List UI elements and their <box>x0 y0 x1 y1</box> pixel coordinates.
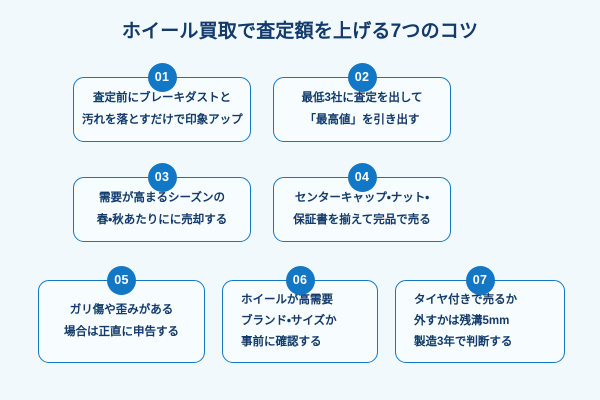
tip-card-02-text: 最低3社に査定を出して 「最高値」を引き出す <box>274 88 450 131</box>
tip-card-06-number-badge: 06 <box>286 266 315 295</box>
tip-card-06-line-3: 事前に確認する <box>241 332 377 353</box>
tip-card-03-number-badge: 03 <box>148 163 177 192</box>
tip-card-07-line-1: タイヤ付きで売るか <box>414 290 564 311</box>
tip-card-05-line-1: ガリ傷や歪みがある <box>47 300 196 321</box>
tip-card-05-number-badge: 05 <box>107 266 136 295</box>
tip-card-01-line-2: 汚れを落とすだけで印象アップ <box>82 110 242 131</box>
tip-card-07-line-3: 製造3年で判断する <box>414 332 564 353</box>
tip-card-04-line-2: 保証書を揃えて完品で売る <box>282 210 442 231</box>
tip-card-04-text: センターキャップ・ナット・ 保証書を揃えて完品で売る <box>274 188 450 231</box>
tip-card-06-line-2: ブランド・サイズか <box>241 311 377 332</box>
tip-card-07-text: タイヤ付きで売るか 外すかは残溝5mm 製造3年で判断する <box>396 290 564 354</box>
tip-card-05-text: ガリ傷や歪みがある 場合は正直に申告する <box>39 300 204 343</box>
tip-card-06-text: ホイールが高需要 ブランド・サイズか 事前に確認する <box>223 290 377 354</box>
tip-card-01-number-badge: 01 <box>148 63 177 92</box>
tip-card-06-line-1: ホイールが高需要 <box>241 290 377 311</box>
tip-card-01-text: 査定前にブレーキダストと 汚れを落とすだけで印象アップ <box>74 88 250 131</box>
tip-card-07-line-2: 外すかは残溝5mm <box>414 311 564 332</box>
infographic-container: ホイール買取で査定額を上げる7つのコツ 査定前にブレーキダストと 汚れを落とすだ… <box>0 0 600 400</box>
tip-card-02-line-2: 「最高値」を引き出す <box>282 110 442 131</box>
page-title: ホイール買取で査定額を上げる7つのコツ <box>0 16 600 43</box>
tip-card-05-line-2: 場合は正直に申告する <box>47 322 196 343</box>
tip-card-04-number-badge: 04 <box>348 163 377 192</box>
tip-card-03-line-2: 春・秋あたりにに売却する <box>82 210 242 231</box>
tip-card-02-number-badge: 02 <box>348 63 377 92</box>
tip-card-03-text: 需要が高まるシーズンの 春・秋あたりにに売却する <box>74 188 250 231</box>
tip-card-07-number-badge: 07 <box>466 266 495 295</box>
